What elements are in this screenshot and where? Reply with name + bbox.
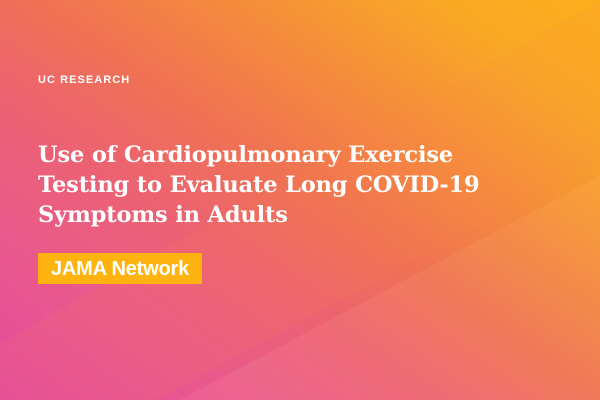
card-content: UC RESEARCH Use of Cardiopulmonary Exerc… [0,0,600,400]
eyebrow-label: UC RESEARCH [38,73,130,87]
promo-card: UC RESEARCH Use of Cardiopulmonary Exerc… [0,0,600,400]
page-title-line-3: Symptoms in Adults [38,200,458,230]
source-badge-jama-network[interactable]: JAMA Network [38,253,202,284]
page-title-line-2: Testing to Evaluate Long COVID-19 [38,170,458,200]
page-title-line-1: Use of Cardiopulmonary Exercise [38,140,458,170]
page-title: Use of Cardiopulmonary Exercise Testing … [38,140,458,230]
